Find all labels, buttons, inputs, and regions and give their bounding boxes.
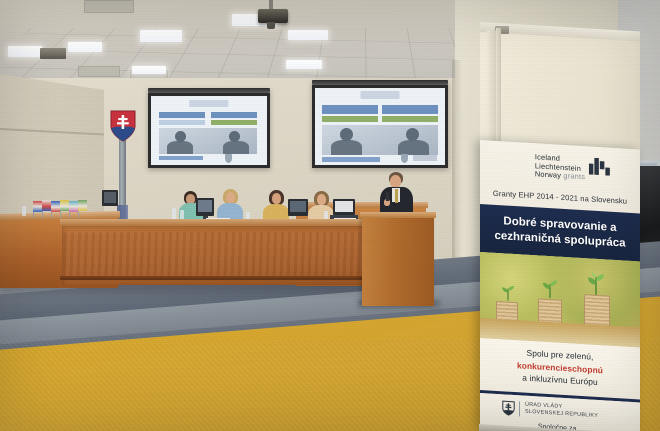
banner-authority-text: ÚRAD VLÁDY SLOVENSKEJ REPUBLIKY (519, 401, 598, 420)
seedling-1 (500, 283, 516, 306)
banner-slogan-block: Spolu pre zelenú, konkurencieschopnú a i… (480, 338, 640, 400)
left-slide-bar-d (211, 120, 257, 125)
left-screen-face (151, 96, 267, 165)
left-slide-person-a-body (167, 141, 193, 154)
podium (362, 216, 434, 306)
right-slide-person-b-body (398, 140, 429, 155)
microphone (386, 192, 389, 201)
banner-headline: Dobré spravovanie a cezhraničná spoluprá… (494, 214, 625, 252)
ceiling-equipment-box (40, 48, 66, 59)
right-slide-crest (401, 154, 408, 163)
right-slide-footer (322, 157, 380, 162)
ceiling-light-4 (132, 66, 166, 74)
water-glass-3 (22, 206, 26, 216)
ceiling-light-6 (286, 60, 322, 69)
left-slide-footer (159, 156, 203, 160)
seedling-2 (541, 279, 559, 304)
slovak-republic-government-office-crest (502, 400, 515, 421)
right-slide-logo (361, 91, 400, 99)
left-slide-bar-a (159, 112, 205, 118)
panelist-3-monitor-screen (290, 201, 306, 212)
ceiling-light-3 (140, 30, 182, 42)
banner-subtitle: Granty EHP 2014 - 2021 na Slovensku (480, 188, 640, 207)
flag-6 (78, 200, 87, 211)
left-slide-photo (159, 128, 257, 154)
left-slide-crest (225, 154, 232, 163)
flag-3 (51, 201, 60, 212)
left-screen-border (148, 93, 270, 168)
ceiling-light-7 (288, 30, 328, 40)
right-slide-person-a-body (331, 140, 362, 155)
panelist-4-laptop-screen (335, 201, 353, 212)
podium-top (360, 212, 436, 218)
banner-support-pole-secondary (496, 28, 501, 146)
left-slide-person-b-body (223, 141, 249, 154)
banner-photo-coins-seedlings (480, 252, 640, 348)
panelist-1-monitor-screen (198, 200, 212, 212)
right-slide-bar-b (382, 105, 438, 114)
speaker-tie-front (395, 189, 399, 203)
slovak-coat-of-arms (110, 110, 136, 142)
logo-line-norway: Norway grants (535, 171, 585, 183)
projector-mount (269, 0, 273, 9)
left-slide-bar-b (211, 112, 257, 118)
panelist-4-head (317, 194, 326, 205)
left-slide (151, 96, 267, 165)
banner-back-panel (480, 26, 640, 158)
left-slide-bar-c (159, 120, 205, 125)
flag-1 (33, 201, 42, 212)
banner-support-pole (487, 30, 496, 146)
right-slide-footer-text (413, 155, 437, 161)
right-projection-screen (312, 80, 448, 168)
logo-word-grants: grants (563, 171, 585, 181)
seedling-3 (586, 272, 606, 300)
flag-2 (42, 200, 51, 211)
table-top-flags (28, 192, 90, 218)
right-slide (315, 88, 445, 165)
right-slide-bar-c (322, 116, 378, 122)
right-screen-border (312, 85, 448, 168)
ceiling-light-2 (68, 42, 102, 52)
ceiling-projector (258, 9, 288, 23)
conference-hall-photo: Iceland Liechtenstein Norway grants Gran… (0, 0, 660, 431)
left-slide-logo (189, 100, 228, 107)
ceiling-light-1 (8, 46, 42, 57)
right-slide-bar-d (382, 116, 438, 122)
grants-logo-block: Iceland Liechtenstein Norway grants (535, 153, 585, 182)
side-table-monitor-screen (104, 192, 116, 203)
panelist-3-head (272, 193, 281, 204)
rollup-banner: Iceland Liechtenstein Norway grants Gran… (480, 140, 640, 431)
left-projection-screen (148, 88, 270, 168)
panelist-2-head (226, 192, 235, 203)
ceiling-vent-2 (78, 66, 120, 77)
right-slide-bar-a (322, 105, 378, 114)
right-slide-photo (322, 125, 438, 155)
ceiling-vent-1 (84, 0, 134, 13)
flag-4 (60, 200, 69, 211)
flag-5 (69, 201, 78, 212)
right-screen-face (315, 88, 445, 165)
iceland-liechtenstein-norway-grants-mark (589, 157, 611, 175)
